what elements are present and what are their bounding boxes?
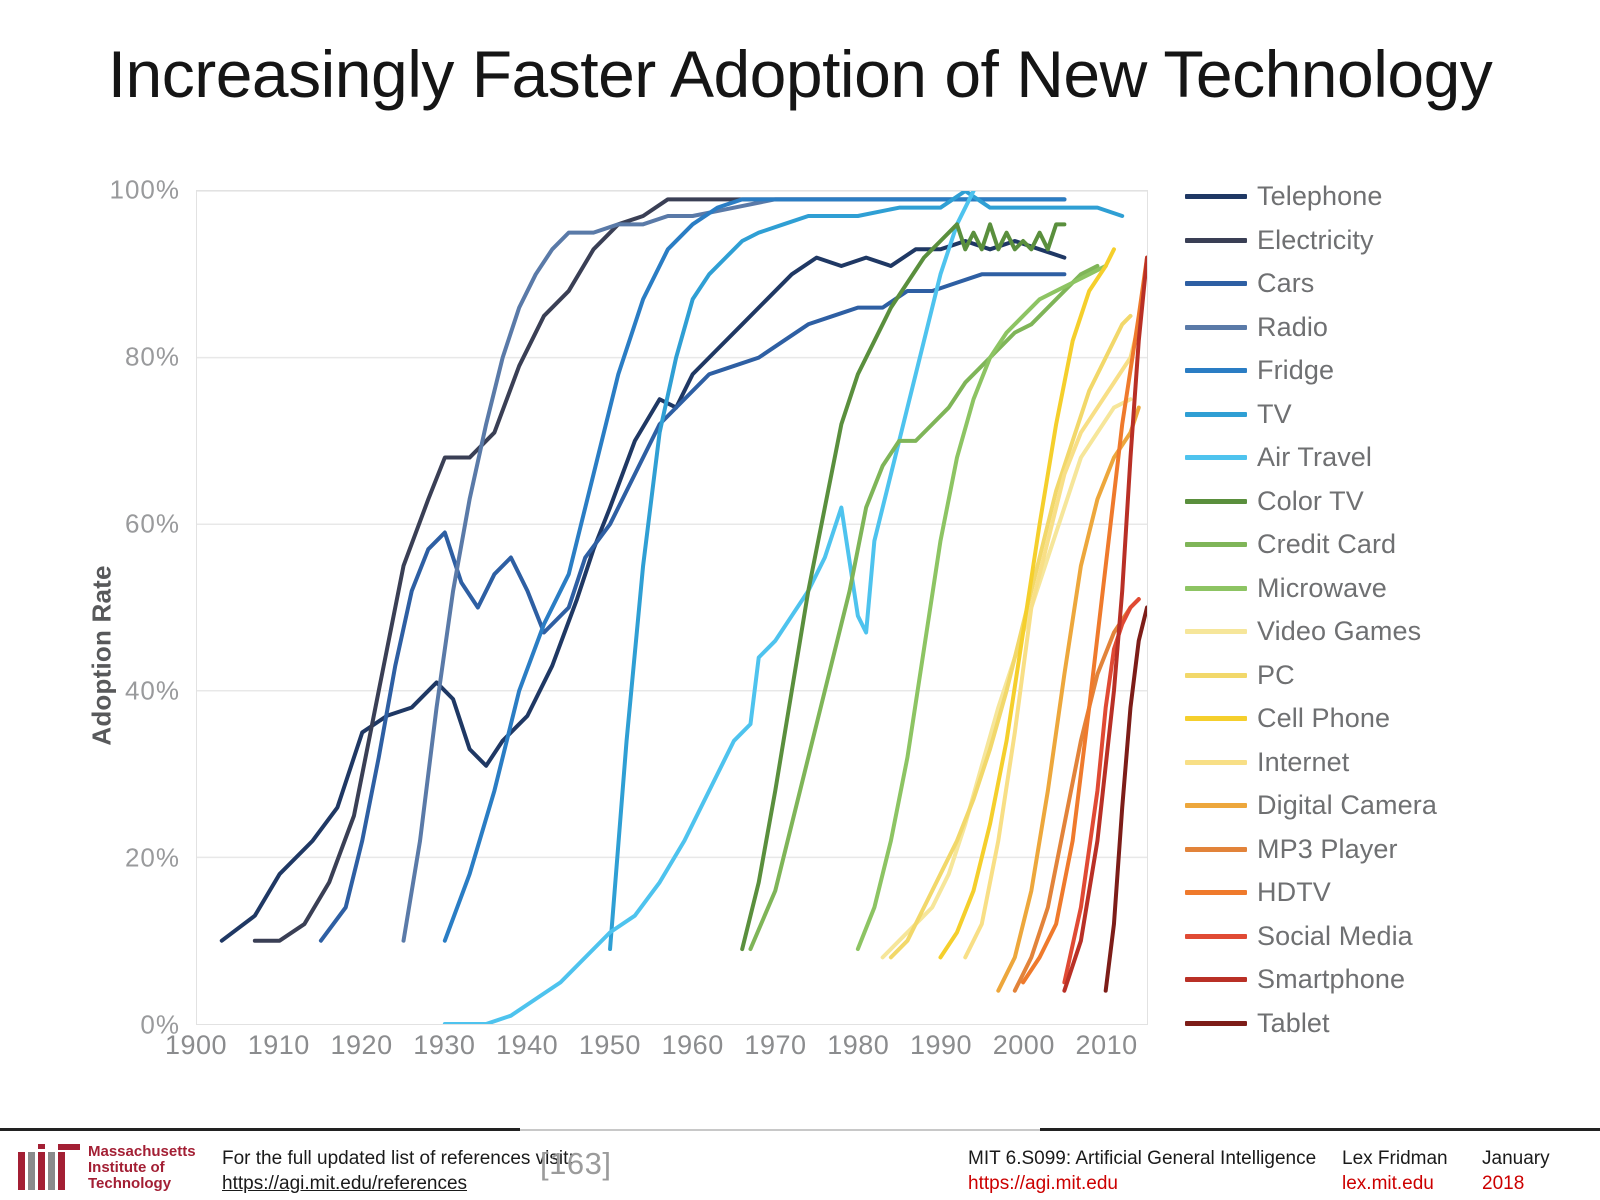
- references-link[interactable]: https://agi.mit.edu/references: [222, 1171, 574, 1196]
- y-axis-tick: 100%: [70, 175, 180, 206]
- legend-color-swatch: [1185, 325, 1247, 330]
- legend-item[interactable]: Video Games: [1185, 610, 1585, 654]
- legend-label: Cars: [1257, 268, 1314, 299]
- course-block: MIT 6.S099: Artificial General Intellige…: [968, 1146, 1316, 1196]
- legend-color-swatch: [1185, 412, 1247, 417]
- y-axis-tick: 40%: [70, 676, 180, 707]
- legend-label: Telephone: [1257, 181, 1383, 212]
- legend-label: Microwave: [1257, 573, 1387, 604]
- page-number: [163]: [540, 1146, 611, 1182]
- page-title: Increasingly Faster Adoption of New Tech…: [0, 36, 1600, 112]
- legend-item[interactable]: PC: [1185, 654, 1585, 698]
- y-axis-tick: 80%: [70, 342, 180, 373]
- legend-label: Tablet: [1257, 1008, 1330, 1039]
- legend-item[interactable]: Fridge: [1185, 349, 1585, 393]
- legend-label: PC: [1257, 660, 1295, 691]
- legend-label: Fridge: [1257, 355, 1334, 386]
- legend-item[interactable]: Radio: [1185, 306, 1585, 350]
- mit-wordmark-line2: Institute of: [88, 1160, 196, 1176]
- legend-color-swatch: [1185, 499, 1247, 504]
- legend-label: Color TV: [1257, 486, 1364, 517]
- author-block: Lex Fridman lex.mit.edu: [1342, 1146, 1448, 1196]
- footer-rule-right: [1040, 1128, 1600, 1131]
- course-title: MIT 6.S099: Artificial General Intellige…: [968, 1146, 1316, 1171]
- footer-rule-left: [0, 1128, 520, 1131]
- series-line: [750, 266, 1097, 949]
- legend-item[interactable]: Tablet: [1185, 1002, 1585, 1046]
- references-prompt: For the full updated list of references …: [222, 1146, 574, 1171]
- date-month: January: [1482, 1146, 1550, 1171]
- legend-item[interactable]: Electricity: [1185, 219, 1585, 263]
- x-axis-tick: 2010: [1047, 1030, 1167, 1061]
- legend-label: MP3 Player: [1257, 834, 1398, 865]
- legend-color-swatch: [1185, 716, 1247, 721]
- references-block: For the full updated list of references …: [222, 1146, 574, 1196]
- x-axis-tick-labels: 1900191019201930194019501960197019801990…: [196, 1030, 1148, 1080]
- legend-label: Internet: [1257, 747, 1349, 778]
- course-link[interactable]: https://agi.mit.edu: [968, 1171, 1316, 1196]
- legend-color-swatch: [1185, 238, 1247, 243]
- legend-label: Air Travel: [1257, 442, 1372, 473]
- legend-color-swatch: [1185, 281, 1247, 286]
- legend-item[interactable]: Digital Camera: [1185, 784, 1585, 828]
- mit-wordmark-line3: Technology: [88, 1176, 196, 1192]
- legend-item[interactable]: Air Travel: [1185, 436, 1585, 480]
- mit-logo-mark: [18, 1144, 80, 1190]
- legend-item[interactable]: Social Media: [1185, 915, 1585, 959]
- series-line: [445, 191, 974, 1024]
- legend-label: Smartphone: [1257, 964, 1405, 995]
- legend-item[interactable]: Credit Card: [1185, 523, 1585, 567]
- legend-item[interactable]: Microwave: [1185, 567, 1585, 611]
- legend-color-swatch: [1185, 803, 1247, 808]
- legend-color-swatch: [1185, 194, 1247, 199]
- series-line: [255, 199, 1065, 940]
- plot-svg: [197, 191, 1147, 1024]
- legend-color-swatch: [1185, 586, 1247, 591]
- legend-item[interactable]: Color TV: [1185, 480, 1585, 524]
- chart-legend: TelephoneElectricityCarsRadioFridgeTVAir…: [1185, 175, 1585, 1045]
- adoption-rate-chart: Adoption Rate 0%20%40%60%80%100% 1900191…: [0, 150, 1600, 1090]
- author-link[interactable]: lex.mit.edu: [1342, 1171, 1448, 1196]
- legend-color-swatch: [1185, 890, 1247, 895]
- author-name: Lex Fridman: [1342, 1146, 1448, 1171]
- legend-color-swatch: [1185, 673, 1247, 678]
- legend-color-swatch: [1185, 760, 1247, 765]
- legend-label: HDTV: [1257, 877, 1331, 908]
- legend-label: Radio: [1257, 312, 1328, 343]
- legend-item[interactable]: MP3 Player: [1185, 828, 1585, 872]
- legend-item[interactable]: Smartphone: [1185, 958, 1585, 1002]
- date-block: January 2018: [1482, 1146, 1550, 1196]
- plot-area: [196, 190, 1148, 1025]
- legend-item[interactable]: Cars: [1185, 262, 1585, 306]
- legend-color-swatch: [1185, 1021, 1247, 1026]
- legend-label: TV: [1257, 399, 1292, 430]
- legend-color-swatch: [1185, 368, 1247, 373]
- slide-footer: Massachusetts Institute of Technology Fo…: [0, 1128, 1600, 1200]
- series-line: [1064, 258, 1147, 991]
- legend-item[interactable]: Telephone: [1185, 175, 1585, 219]
- legend-color-swatch: [1185, 542, 1247, 547]
- y-axis-tick-labels: 0%20%40%60%80%100%: [60, 150, 180, 1090]
- legend-label: Video Games: [1257, 616, 1421, 647]
- legend-item[interactable]: HDTV: [1185, 871, 1585, 915]
- mit-wordmark-line1: Massachusetts: [88, 1144, 196, 1160]
- date-year: 2018: [1482, 1171, 1550, 1196]
- legend-label: Cell Phone: [1257, 703, 1390, 734]
- footer-rule-middle: [520, 1129, 1040, 1131]
- legend-item[interactable]: Cell Phone: [1185, 697, 1585, 741]
- y-axis-tick: 20%: [70, 843, 180, 874]
- legend-label: Digital Camera: [1257, 790, 1437, 821]
- mit-logo: Massachusetts Institute of Technology: [18, 1144, 196, 1192]
- legend-label: Credit Card: [1257, 529, 1396, 560]
- legend-color-swatch: [1185, 934, 1247, 939]
- legend-color-swatch: [1185, 977, 1247, 982]
- mit-wordmark: Massachusetts Institute of Technology: [88, 1144, 196, 1192]
- legend-color-swatch: [1185, 629, 1247, 634]
- legend-color-swatch: [1185, 455, 1247, 460]
- y-axis-tick: 60%: [70, 509, 180, 540]
- legend-item[interactable]: TV: [1185, 393, 1585, 437]
- legend-item[interactable]: Internet: [1185, 741, 1585, 785]
- legend-label: Electricity: [1257, 225, 1374, 256]
- legend-label: Social Media: [1257, 921, 1413, 952]
- legend-color-swatch: [1185, 847, 1247, 852]
